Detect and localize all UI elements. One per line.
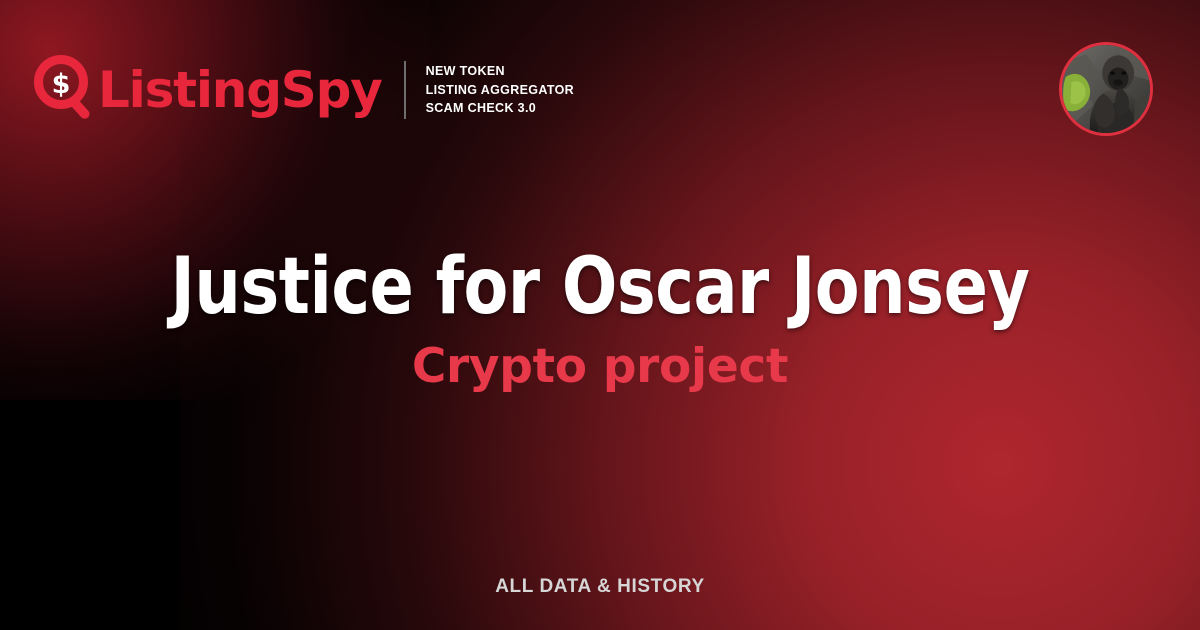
brand-lockup[interactable]: $ ListingSpy NEW TOKEN LISTING AGGREGATO… — [34, 55, 574, 125]
page-title: Justice for Oscar Jonsey — [42, 246, 1158, 329]
page-subtitle: Crypto project — [0, 341, 1200, 393]
footer-text: ALL DATA & HISTORY — [495, 576, 705, 597]
magnifier-dollar-icon: $ — [34, 55, 96, 125]
tagline-line-1: NEW TOKEN — [426, 64, 505, 78]
svg-text:$: $ — [52, 69, 71, 100]
footer: ALL DATA & HISTORY — [0, 576, 1200, 598]
avatar[interactable] — [1059, 42, 1153, 136]
brand-wordmark: ListingSpy — [98, 65, 382, 115]
brand-tagline: NEW TOKEN LISTING AGGREGATOR SCAM CHECK … — [426, 62, 574, 118]
hero-content: Justice for Oscar Jonsey Crypto project — [0, 246, 1200, 392]
brand-divider — [404, 61, 406, 119]
tagline-line-2: LISTING AGGREGATOR — [426, 83, 574, 97]
header: $ ListingSpy NEW TOKEN LISTING AGGREGATO… — [0, 0, 1200, 172]
listing-spy-banner: $ ListingSpy NEW TOKEN LISTING AGGREGATO… — [0, 0, 1200, 630]
tagline-line-3: SCAM CHECK 3.0 — [426, 101, 536, 115]
